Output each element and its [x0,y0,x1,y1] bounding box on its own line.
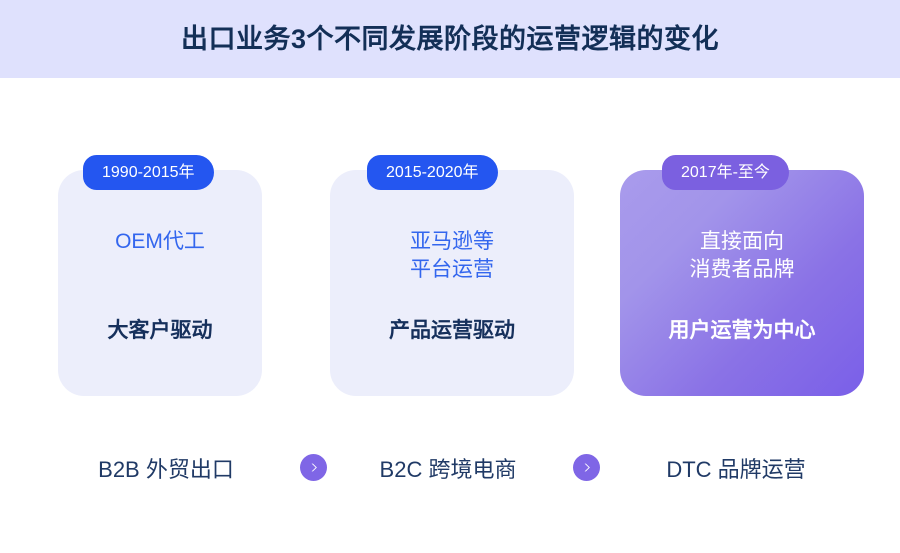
stage-card-2-headline-line2: 平台运营 [410,256,494,284]
stage-card-3-headline: 直接面向 消费者品牌 [690,228,795,284]
stage-card-1-headline: OEM代工 [115,228,205,256]
stage-card-3-headline-line2: 消费者品牌 [690,256,795,284]
stage-card-3-subtitle: 用户运营为中心 [669,318,816,344]
stage-card-2-headline-line1: 亚马逊等 [410,228,494,256]
chevron-right-icon [573,454,600,481]
stage-card-2[interactable]: 亚马逊等 平台运营 产品运营驱动 2015-2020年 [330,155,574,400]
stage-card-1-subtitle-holder: 大客户驱动 [58,318,262,344]
flow-label-b2c: B2C 跨境电商 [340,452,556,484]
stage-card-1[interactable]: OEM代工 大客户驱动 1990-2015年 [58,155,262,400]
stage-card-3-body: 直接面向 消费者品牌 用户运营为中心 [620,170,864,396]
stage-card-2-body: 亚马逊等 平台运营 产品运营驱动 [330,170,574,396]
stage-card-1-period-badge: 1990-2015年 [83,155,214,190]
stage-card-1-body: OEM代工 大客户驱动 [58,170,262,396]
stage-card-3-period-badge: 2017年-至今 [662,155,789,190]
stage-card-3-headline-line1: 直接面向 [690,228,795,256]
header-band: 出口业务3个不同发展阶段的运营逻辑的变化 [0,0,900,78]
stage-card-1-subtitle: 大客户驱动 [108,318,213,344]
chevron-right-icon [300,454,327,481]
stage-cards-row: OEM代工 大客户驱动 1990-2015年 亚马逊等 平台运营 产品运营驱动 … [0,155,900,400]
stage-card-2-period-badge: 2015-2020年 [367,155,498,190]
business-model-flow: B2B 外贸出口 B2C 跨境电商 DTC 品牌运营 [0,440,900,496]
stage-card-2-subtitle-holder: 产品运营驱动 [330,318,574,344]
stage-card-3[interactable]: 直接面向 消费者品牌 用户运营为中心 2017年-至今 [620,155,864,400]
stage-card-3-subtitle-holder: 用户运营为中心 [620,318,864,344]
flow-label-dtc: DTC 品牌运营 [628,452,844,484]
stage-card-2-subtitle: 产品运营驱动 [389,318,515,344]
stage-card-2-headline: 亚马逊等 平台运营 [410,228,494,284]
flow-label-b2b: B2B 外贸出口 [58,452,274,484]
page-title: 出口业务3个不同发展阶段的运营逻辑的变化 [181,26,719,53]
